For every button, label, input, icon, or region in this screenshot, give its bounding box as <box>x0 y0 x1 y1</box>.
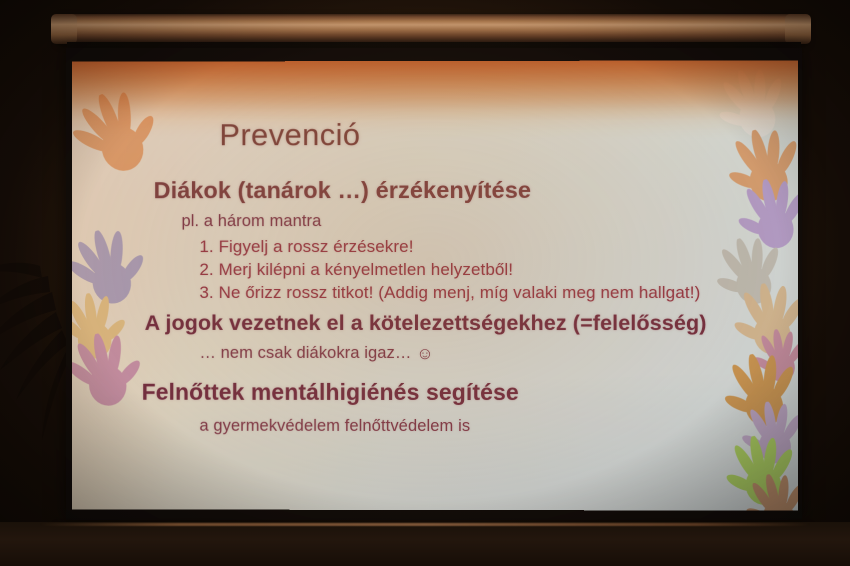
photo-scene: Prevenció Diákok (tanárok …) érzékenyíté… <box>0 0 850 566</box>
foreground-desk <box>0 522 850 566</box>
slide-title: Prevenció <box>219 117 360 153</box>
block-heading-jogok: A jogok vezetnek el a kötelezettségekhez… <box>145 311 707 336</box>
list-item-2: 2. Merj kilépni a kényelmetlen helyzetbő… <box>199 260 513 280</box>
slide-text-content: Prevenció Diákok (tanárok …) érzékenyíté… <box>72 60 798 510</box>
list-item-3: 3. Ne őrizz rossz titkot! (Addig menj, m… <box>199 283 700 303</box>
screen-fabric: Prevenció Diákok (tanárok …) érzékenyíté… <box>72 60 798 510</box>
screen-roller-casing <box>57 14 809 44</box>
block-subtitle-gyermekvedelem: a gyermekvédelem felnőttvédelem is <box>199 417 470 436</box>
presentation-slide: Prevenció Diákok (tanárok …) érzékenyíté… <box>72 60 798 510</box>
desk-edge-highlight <box>40 523 810 526</box>
smiley-face-icon: ☺ <box>416 344 433 363</box>
roller-cap-left <box>51 14 77 44</box>
block-heading-felnottek: Felnőttek mentálhigiénés segítése <box>142 379 519 406</box>
roller-cap-right <box>785 14 811 44</box>
projector-screen: Prevenció Diákok (tanárok …) érzékenyíté… <box>47 14 815 534</box>
subtitle-nemcsak-text: … nem csak diákokra igaz… <box>199 344 416 362</box>
list-item-1: 1. Figyelj a rossz érzésekre! <box>199 237 413 257</box>
block-heading-diakok: Diákok (tanárok …) érzékenyítése <box>154 177 532 204</box>
block-subtitle-nemcsak: … nem csak diákokra igaz… ☺ <box>199 344 433 364</box>
block-subtitle-mantra: pl. a három mantra <box>182 212 322 231</box>
